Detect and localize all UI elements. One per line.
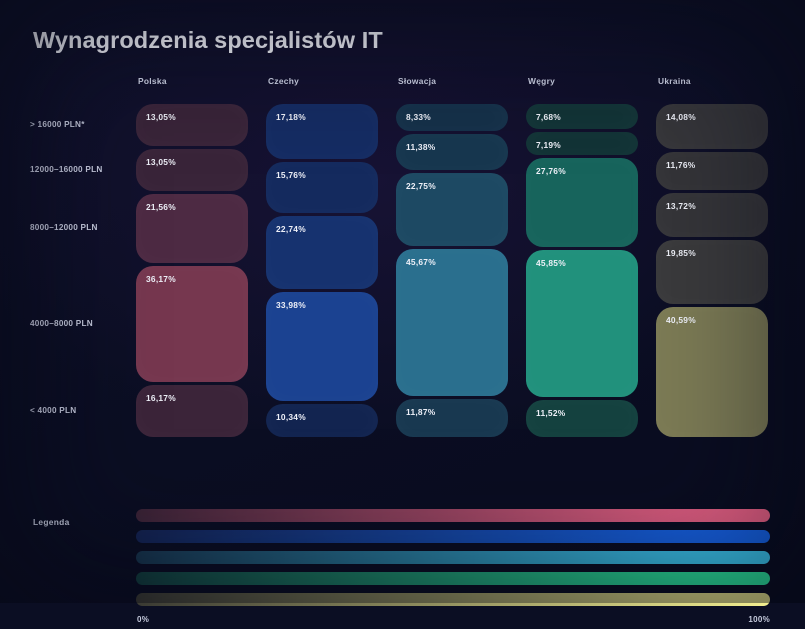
column-header-węgry: Węgry (528, 76, 555, 86)
heatmap-cell[interactable]: 8,33% (396, 104, 508, 131)
heatmap-cell[interactable]: 7,68% (526, 104, 638, 129)
heatmap-cell[interactable]: 7,19% (526, 132, 638, 155)
cell-value-label: 27,76% (536, 166, 566, 176)
row-label-3: 8000–12000 PLN (30, 223, 98, 232)
heatmap-cell[interactable]: 45,85% (526, 250, 638, 397)
infographic-canvas: Wynagrodzenia specjalistów IT > 16000 PL… (0, 0, 805, 603)
heatmap-cell[interactable]: 33,98% (266, 292, 378, 401)
cell-value-label: 16,17% (146, 393, 176, 403)
cell-value-label: 14,08% (666, 112, 696, 122)
heatmap-cell[interactable]: 27,76% (526, 158, 638, 247)
cell-value-label: 11,76% (666, 160, 695, 170)
cell-value-label: 11,87% (406, 407, 435, 417)
cell-value-label: 45,67% (406, 257, 436, 267)
cell-value-label: 21,56% (146, 202, 176, 212)
cell-value-label: 11,52% (536, 408, 565, 418)
row-label-2: 12000–16000 PLN (30, 165, 103, 174)
column-header-słowacja: Słowacja (398, 76, 436, 86)
cell-value-label: 36,17% (146, 274, 176, 284)
cell-value-label: 8,33% (406, 112, 431, 122)
legend-axis-min: 0% (137, 615, 149, 624)
salary-distribution-heatmap: > 16000 PLN*12000–16000 PLN8000–12000 PL… (0, 76, 805, 438)
row-label-4: 4000–8000 PLN (30, 319, 93, 328)
heatmap-cell[interactable]: 40,59% (656, 307, 768, 437)
heatmap-cell[interactable]: 11,38% (396, 134, 508, 171)
legend-gradient-bars (136, 509, 770, 614)
heatmap-cell[interactable]: 13,05% (136, 104, 248, 146)
cell-value-label: 7,19% (536, 140, 561, 150)
legend-bar-polska-scale (136, 509, 770, 522)
heatmap-cell[interactable]: 14,08% (656, 104, 768, 149)
heatmap-cell[interactable]: 17,18% (266, 104, 378, 159)
cell-value-label: 19,85% (666, 248, 696, 258)
page-title: Wynagrodzenia specjalistów IT (33, 27, 383, 54)
cell-value-label: 13,05% (146, 112, 176, 122)
cell-value-label: 22,74% (276, 224, 306, 234)
cell-value-label: 45,85% (536, 258, 566, 268)
heatmap-cell[interactable]: 36,17% (136, 266, 248, 382)
column-header-czechy: Czechy (268, 76, 299, 86)
cell-value-label: 7,68% (536, 112, 561, 122)
heatmap-cell[interactable]: 21,56% (136, 194, 248, 263)
cell-value-label: 15,76% (276, 170, 306, 180)
heatmap-cell[interactable]: 15,76% (266, 162, 378, 213)
heatmap-cell[interactable]: 16,17% (136, 385, 248, 437)
column-header-ukraina: Ukraina (658, 76, 691, 86)
column-słowacja: Słowacja8,33%11,38%22,75%45,67%11,87% (396, 76, 508, 438)
stack-czechy: 17,18%15,76%22,74%33,98%10,34% (266, 104, 378, 437)
legend-bar-slowacja-scale (136, 551, 770, 564)
legend-axis-max: 100% (748, 615, 770, 624)
heatmap-cell[interactable]: 11,87% (396, 399, 508, 437)
legend: Legenda 0% 100% (0, 452, 805, 577)
cell-value-label: 10,34% (276, 412, 306, 422)
cell-value-label: 17,18% (276, 112, 306, 122)
stack-polska: 13,05%13,05%21,56%36,17%16,17% (136, 104, 248, 437)
cell-value-label: 22,75% (406, 181, 436, 191)
cell-value-label: 13,72% (666, 201, 696, 211)
heatmap-cell[interactable]: 22,75% (396, 173, 508, 246)
column-ukraina: Ukraina14,08%11,76%13,72%19,85%40,59% (656, 76, 768, 438)
row-label-5: < 4000 PLN (30, 406, 76, 415)
heatmap-cell[interactable]: 11,52% (526, 400, 638, 437)
legend-bar-wegry-scale (136, 572, 770, 585)
column-czechy: Czechy17,18%15,76%22,74%33,98%10,34% (266, 76, 378, 438)
heatmap-cell[interactable]: 10,34% (266, 404, 378, 437)
heatmap-cell[interactable]: 13,05% (136, 149, 248, 191)
heatmap-cell[interactable]: 22,74% (266, 216, 378, 289)
column-węgry: Węgry7,68%7,19%27,76%45,85%11,52% (526, 76, 638, 438)
legend-title: Legenda (33, 517, 70, 527)
column-polska: Polska13,05%13,05%21,56%36,17%16,17% (136, 76, 248, 438)
cell-value-label: 40,59% (666, 315, 696, 325)
cell-value-label: 13,05% (146, 157, 176, 167)
stack-węgry: 7,68%7,19%27,76%45,85%11,52% (526, 104, 638, 437)
legend-bar-czechy-scale (136, 530, 770, 543)
stack-ukraina: 14,08%11,76%13,72%19,85%40,59% (656, 104, 768, 437)
country-columns: Polska13,05%13,05%21,56%36,17%16,17%Czec… (136, 76, 805, 438)
row-label-1: > 16000 PLN* (30, 120, 85, 129)
heatmap-cell[interactable]: 11,76% (656, 152, 768, 190)
column-header-polska: Polska (138, 76, 167, 86)
cell-value-label: 33,98% (276, 300, 306, 310)
heatmap-cell[interactable]: 19,85% (656, 240, 768, 304)
heatmap-cell[interactable]: 13,72% (656, 193, 768, 237)
cell-value-label: 11,38% (406, 142, 435, 152)
row-label-axis: > 16000 PLN*12000–16000 PLN8000–12000 PL… (0, 76, 136, 438)
heatmap-cell[interactable]: 45,67% (396, 249, 508, 396)
legend-axis: 0% 100% (136, 615, 770, 629)
stack-słowacja: 8,33%11,38%22,75%45,67%11,87% (396, 104, 508, 437)
legend-bar-ukraina-scale (136, 593, 770, 606)
